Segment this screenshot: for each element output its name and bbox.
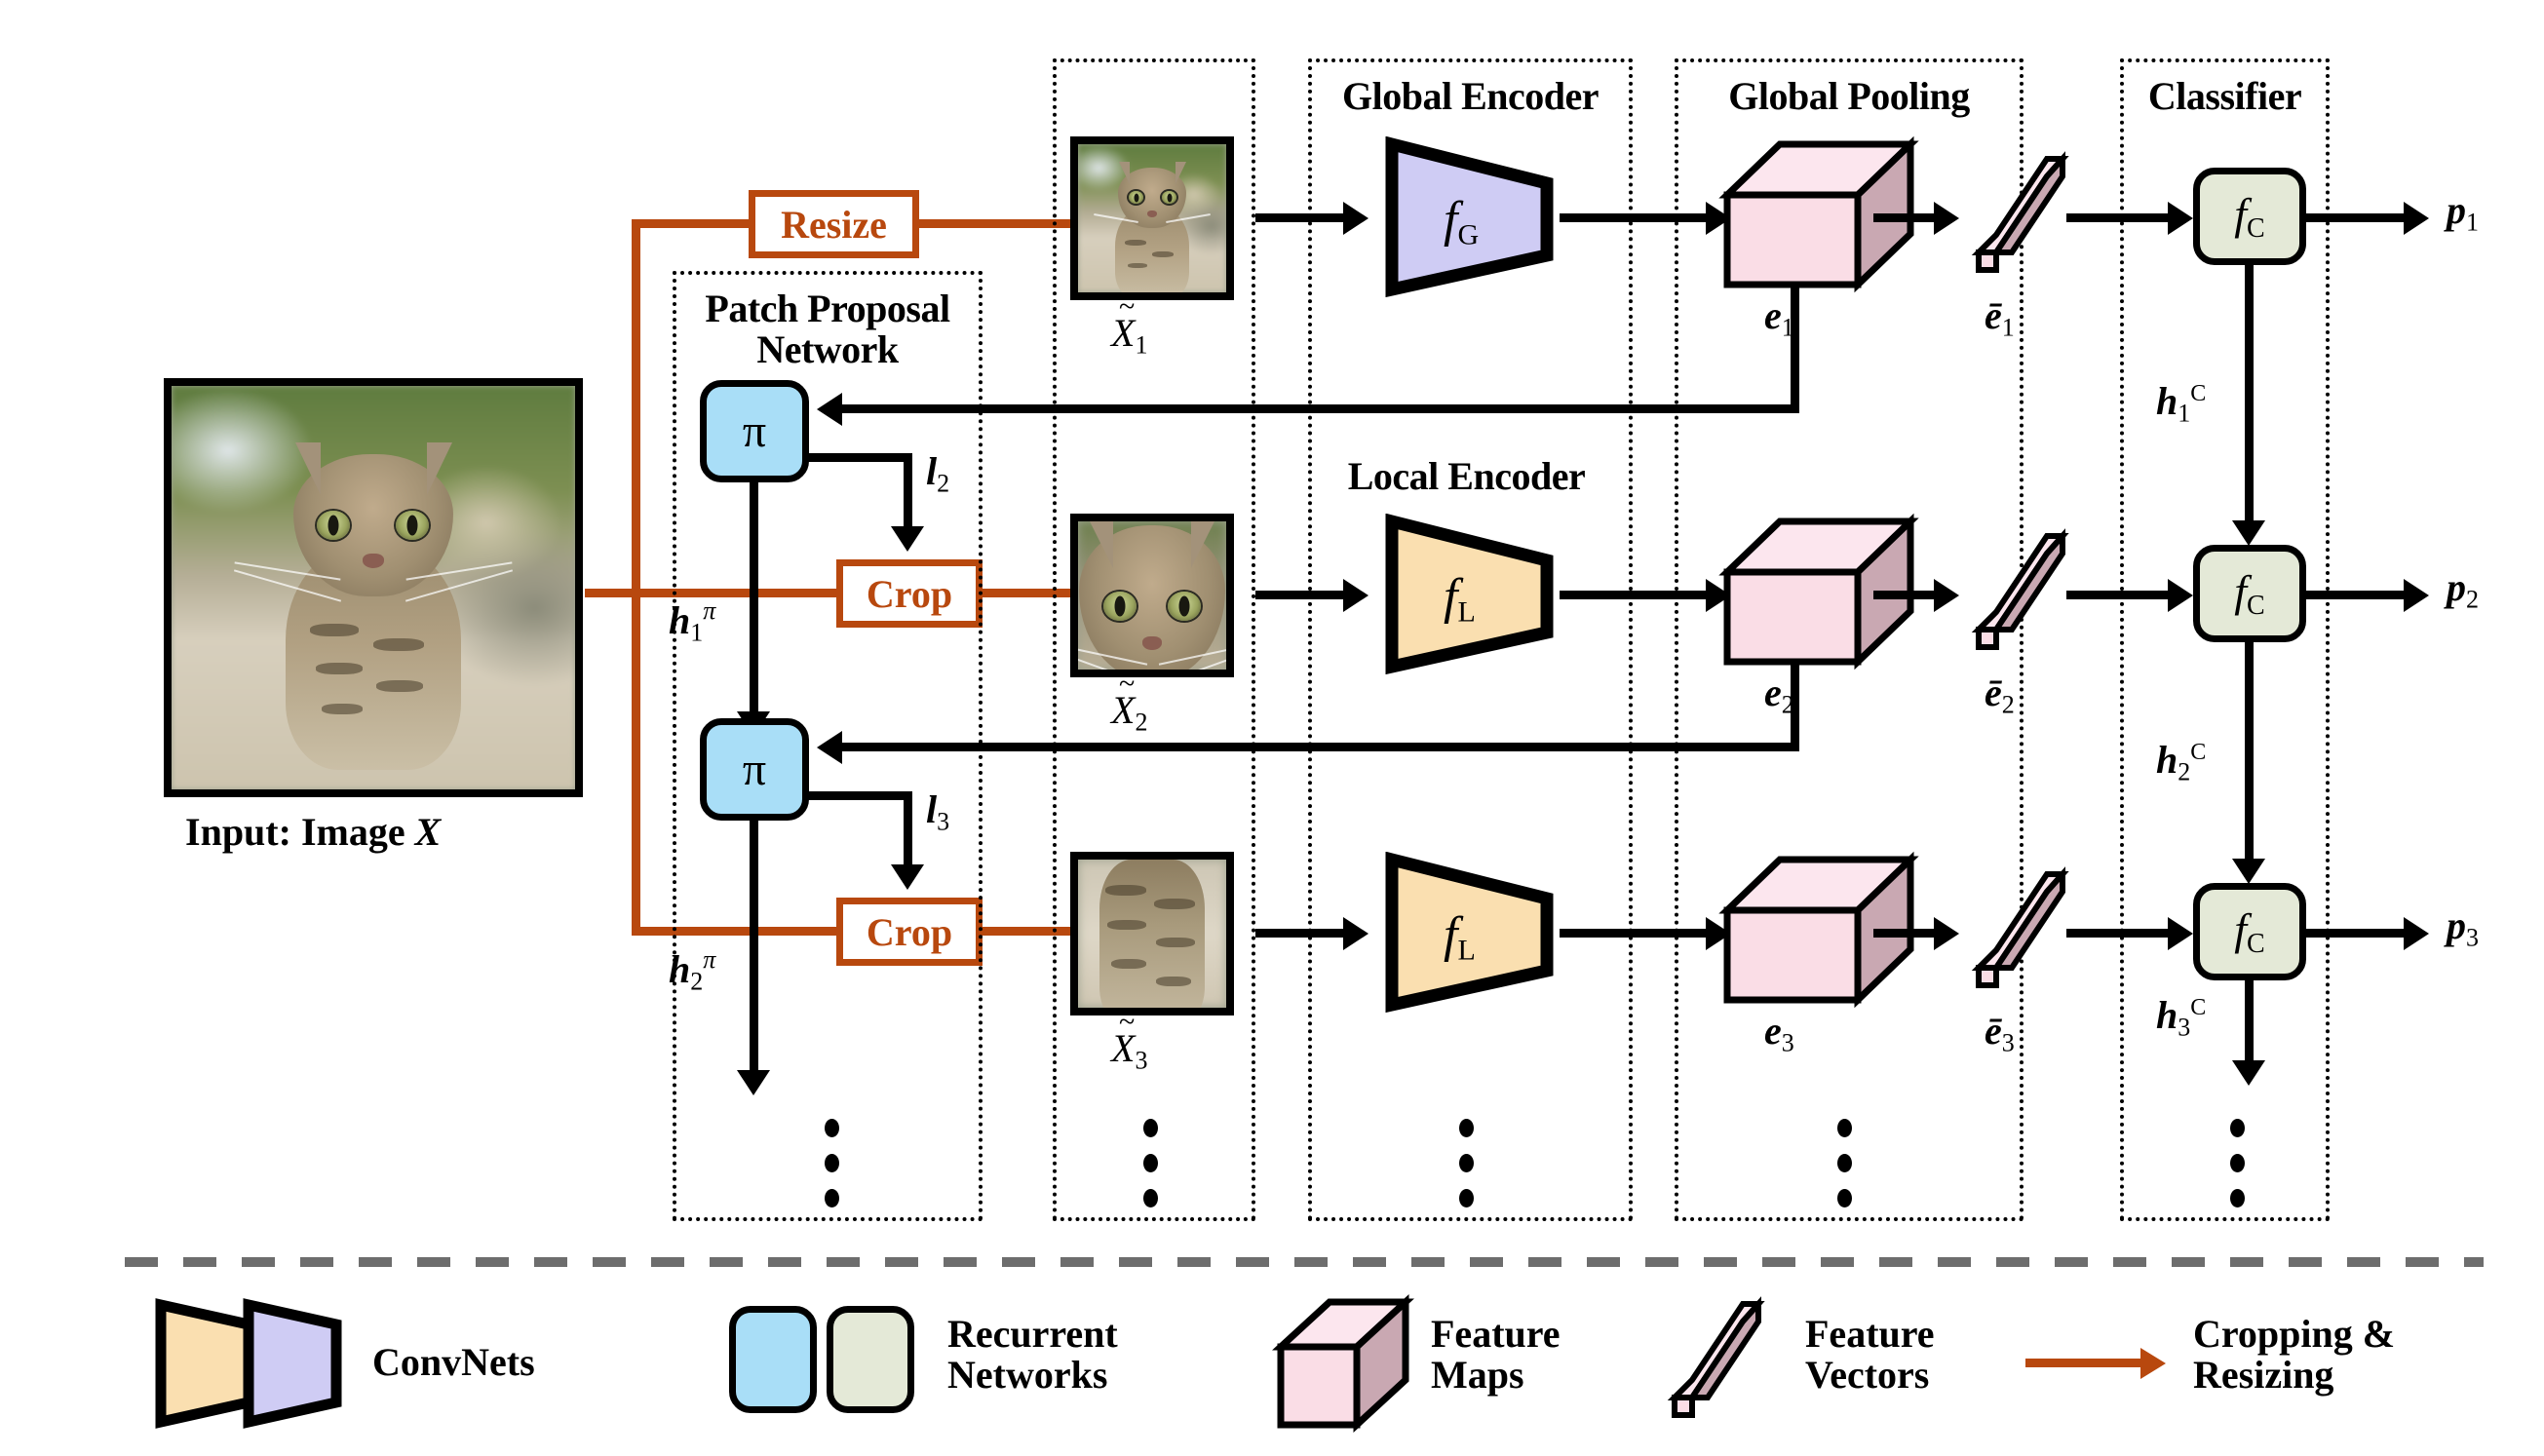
classifier-3-state-head [2232, 1060, 2265, 1086]
input-image-caption: Input: Image X [185, 809, 441, 855]
policy-state-line-2 [750, 819, 758, 1070]
legend-feature-maps-swatch [1275, 1296, 1411, 1433]
group-classifier-title: Classifier [2124, 76, 2326, 117]
local-encoder-3-fn-sub: L [1457, 934, 1475, 966]
output-label-1: p1 [2447, 187, 2479, 237]
patch-image-1 [1070, 136, 1234, 300]
local-encoder-3-function-label: fL [1444, 906, 1476, 967]
patch-image-2-kitten [1076, 516, 1228, 677]
patch-1-tilde: ~ [1119, 290, 1135, 324]
legend-convnets-swatch-global [242, 1298, 344, 1435]
output-3-sub: 3 [2466, 923, 2479, 951]
patch-image-1-caption: X~1 [1111, 310, 1147, 360]
action-label-2: l2 [926, 448, 949, 498]
feature-map-1-sym: e [1764, 293, 1782, 337]
legend-recurrent-label-line2: Networks [947, 1355, 1118, 1396]
action-label-2-sym: l [926, 449, 937, 493]
feature-map-3-sym: e [1764, 1009, 1782, 1053]
output-1-sub: 1 [2466, 208, 2479, 236]
arrow-map2-to-vector-line [1873, 591, 1934, 599]
local-encoder-2-fn: f [1444, 569, 1457, 625]
legend-cropping-arrowhead [2140, 1348, 2166, 1379]
policy-box-1[interactable]: π [700, 380, 809, 482]
patch-2-tilde: ~ [1119, 668, 1135, 701]
local-encoder-3-fn: f [1444, 907, 1457, 963]
classifier-1-state-line [2245, 263, 2254, 520]
action-label-3-sym: l [926, 787, 937, 831]
resize-box[interactable]: Resize [749, 190, 919, 258]
legend-cropping-arrow-line [2025, 1359, 2140, 1367]
patch-3-sub: 3 [1135, 1046, 1147, 1074]
policy-state-label-2-sup: π [703, 945, 715, 974]
feature-map-3-sub: 3 [1782, 1028, 1794, 1056]
ellipsis-patch-proposal [825, 1119, 839, 1207]
feature-vector-3-sub: 3 [2002, 1028, 2015, 1056]
classifier-state-3-sub: 3 [2178, 1013, 2190, 1041]
group-global-pooling-title: Global Pooling [1678, 76, 2020, 117]
classifier-box-2[interactable]: fC [2193, 545, 2306, 642]
legend-recurrent-swatch-policy [729, 1306, 817, 1413]
classifier-2-fn-sub: C [2247, 591, 2265, 621]
patch-image-2-caption: X~2 [1111, 687, 1147, 737]
resize-label: Resize [781, 202, 887, 248]
legend-recurrent-swatch-classifier [827, 1306, 914, 1413]
orange-resize-line-left [632, 219, 749, 228]
arrow-map3-to-vector-head [1934, 917, 1959, 950]
policy-state-label-1-sup: π [703, 596, 715, 625]
legend-convnets-label: ConvNets [372, 1342, 535, 1383]
patch-image-3-caption: X~3 [1111, 1025, 1147, 1075]
orange-trunk-vertical [632, 219, 640, 560]
output-3-sym: p [2447, 903, 2466, 947]
legend-cropping-label-line1: Cropping & [2193, 1314, 2395, 1355]
input-image-symbol: X [415, 810, 442, 854]
feature-map-2-sym: e [1764, 671, 1782, 714]
legend-feature-maps-label-line2: Maps [1431, 1355, 1561, 1396]
classifier-3-fn: f [2234, 904, 2247, 954]
feature-vector-2-label: ē2 [1985, 670, 2015, 719]
patch-image-1-kitten [1101, 162, 1203, 298]
output-label-2: p2 [2447, 564, 2479, 614]
legend-feature-vectors-swatch [1669, 1296, 1766, 1428]
classifier-state-1-sub: 1 [2178, 399, 2190, 427]
legend-recurrent-label-line1: Recurrent [947, 1314, 1118, 1355]
classifier-box-1[interactable]: fC [2193, 168, 2306, 265]
action-arrowhead-3 [891, 864, 924, 890]
patch-1-sub: 1 [1135, 330, 1147, 359]
legend-cropping-label: Cropping & Resizing [2193, 1314, 2395, 1397]
classifier-state-3-sym: h [2156, 993, 2178, 1037]
policy-state-label-1: h1π [669, 596, 715, 647]
classifier-state-label-3: h3C [2156, 992, 2206, 1042]
output-1-sym: p [2447, 188, 2466, 232]
feature-vector-1-sym: ē [1985, 293, 2002, 337]
policy-state-label-2-sym: h [669, 947, 690, 991]
ellipsis-classifiers [2230, 1119, 2245, 1207]
classifier-2-output-head [2404, 579, 2429, 612]
group-global-encoder-title: Global Encoder [1312, 76, 1629, 117]
policy-state-arrowhead-2 [737, 1070, 770, 1095]
classifier-1-fn: f [2234, 189, 2247, 239]
input-image-caption-text: Input: Image [185, 810, 405, 854]
legend-separator [125, 1257, 2484, 1267]
policy-box-2[interactable]: π [700, 718, 809, 821]
feature-vector-3-label: ē3 [1985, 1008, 2015, 1057]
ellipsis-patch-images [1143, 1119, 1158, 1207]
action-label-2-sub: 2 [937, 469, 949, 497]
ellipsis-feature-maps [1837, 1119, 1852, 1207]
classifier-state-2-sub: 2 [2178, 757, 2190, 785]
legend-feature-maps-label-line1: Feature [1431, 1314, 1561, 1355]
classifier-1-state-head [2232, 520, 2265, 546]
classifier-3-fn-wrap: fC [2234, 903, 2264, 960]
patch-3-tilde: ~ [1119, 1006, 1135, 1039]
classifier-2-output-line [2306, 591, 2404, 599]
output-label-3: p3 [2447, 902, 2479, 952]
ppn-title-line1: Patch Proposal [676, 288, 979, 329]
global-encoder-fn-sub: G [1457, 218, 1479, 250]
input-image [164, 378, 583, 797]
classifier-1-fn-wrap: fC [2234, 188, 2264, 245]
action-line-2 [807, 453, 912, 462]
classifier-state-label-2: h2C [2156, 737, 2206, 786]
classifier-2-fn-wrap: fC [2234, 565, 2264, 622]
patch-image-2 [1070, 514, 1234, 677]
feedback-arrowhead-2 [817, 731, 842, 764]
classifier-state-1-sym: h [2156, 379, 2178, 423]
patch-2-sub: 2 [1135, 708, 1147, 736]
action-label-3-sub: 3 [937, 807, 949, 835]
classifier-state-1-sup: C [2190, 381, 2206, 406]
classifier-state-2-sup: C [2190, 740, 2206, 765]
feature-vector-3-sym: ē [1985, 1009, 2002, 1053]
arrow-map1-to-vector-line [1873, 213, 1934, 222]
feature-map-2-sub: 2 [1782, 690, 1794, 718]
policy-box-1-label: π [743, 404, 766, 458]
input-image-kitten [251, 439, 495, 770]
feature-vector-2-sym: ē [1985, 671, 2002, 714]
policy-state-label-1-sym: h [669, 598, 690, 642]
global-encoder-function-label: fG [1444, 191, 1479, 251]
classifier-3-fn-sub: C [2247, 929, 2265, 959]
policy-state-label-1-sub: 1 [690, 618, 703, 646]
arrow-map2-to-vector-head [1934, 579, 1959, 612]
classifier-3-output-head [2404, 917, 2429, 950]
global-encoder-fn: f [1444, 192, 1457, 248]
policy-state-line-1 [750, 480, 758, 711]
legend-recurrent-label: Recurrent Networks [947, 1314, 1118, 1397]
feature-vector-1 [1973, 151, 2066, 278]
policy-state-label-2: h2π [669, 945, 715, 996]
legend-feature-vectors-label-line1: Feature [1805, 1314, 1935, 1355]
feature-map-1-label: e1 [1764, 292, 1794, 342]
feature-vector-3 [1973, 866, 2066, 993]
classifier-1-output-head [2404, 202, 2429, 235]
arrow-map1-to-vector-head [1934, 202, 1959, 235]
orange-input-stub [585, 589, 639, 597]
feature-map-1-sub: 1 [1782, 313, 1794, 341]
output-2-sub: 2 [2466, 585, 2479, 613]
classifier-state-label-1: h1C [2156, 378, 2206, 428]
patch-image-3-kitten [1094, 860, 1211, 1015]
output-2-sym: p [2447, 565, 2466, 609]
action-line-3 [807, 791, 912, 800]
classifier-2-fn: f [2234, 566, 2247, 616]
legend-feature-vectors-label: Feature Vectors [1805, 1314, 1935, 1397]
orange-trunk-vertical-lower [632, 560, 640, 936]
action-riser-2 [904, 453, 912, 526]
classifier-1-output-line [2306, 213, 2404, 222]
legend-feature-maps-label: Feature Maps [1431, 1314, 1561, 1397]
feature-vector-2 [1973, 528, 2066, 655]
action-riser-3 [904, 791, 912, 864]
classifier-2-state-head [2232, 859, 2265, 884]
classifier-2-state-line [2245, 640, 2254, 859]
feature-map-2-label: e2 [1764, 670, 1794, 719]
classifier-state-2-sym: h [2156, 738, 2178, 782]
classifier-3-state-line [2245, 978, 2254, 1060]
orange-resize-line-right [919, 219, 1070, 228]
group-patch-proposal-network-title: Patch Proposal Network [676, 288, 979, 370]
feature-map-3-label: e3 [1764, 1008, 1794, 1057]
patch-image-3 [1070, 852, 1234, 1015]
action-label-3: l3 [926, 786, 949, 836]
classifier-state-3-sup: C [2190, 995, 2206, 1020]
ppn-title-line2: Network [676, 329, 979, 370]
feature-vector-1-sub: 1 [2002, 313, 2015, 341]
local-encoder-2-fn-sub: L [1457, 595, 1475, 628]
policy-state-label-2-sub: 2 [690, 967, 703, 995]
feature-vector-2-sub: 2 [2002, 690, 2015, 718]
arrow-map3-to-vector-line [1873, 929, 1934, 938]
group-local-encoder-title: Local Encoder [1308, 456, 1625, 497]
classifier-3-output-line [2306, 929, 2404, 938]
legend-cropping-label-line2: Resizing [2193, 1355, 2395, 1396]
classifier-box-3[interactable]: fC [2193, 883, 2306, 980]
ellipsis-encoders [1459, 1119, 1474, 1207]
legend-feature-vectors-label-line2: Vectors [1805, 1355, 1935, 1396]
local-encoder-2-function-label: fL [1444, 568, 1476, 629]
feature-vector-1-label: ē1 [1985, 292, 2015, 342]
action-arrowhead-2 [891, 526, 924, 552]
classifier-1-fn-sub: C [2247, 213, 2265, 244]
feedback-arrowhead-1 [817, 393, 842, 426]
policy-box-2-label: π [743, 743, 766, 796]
